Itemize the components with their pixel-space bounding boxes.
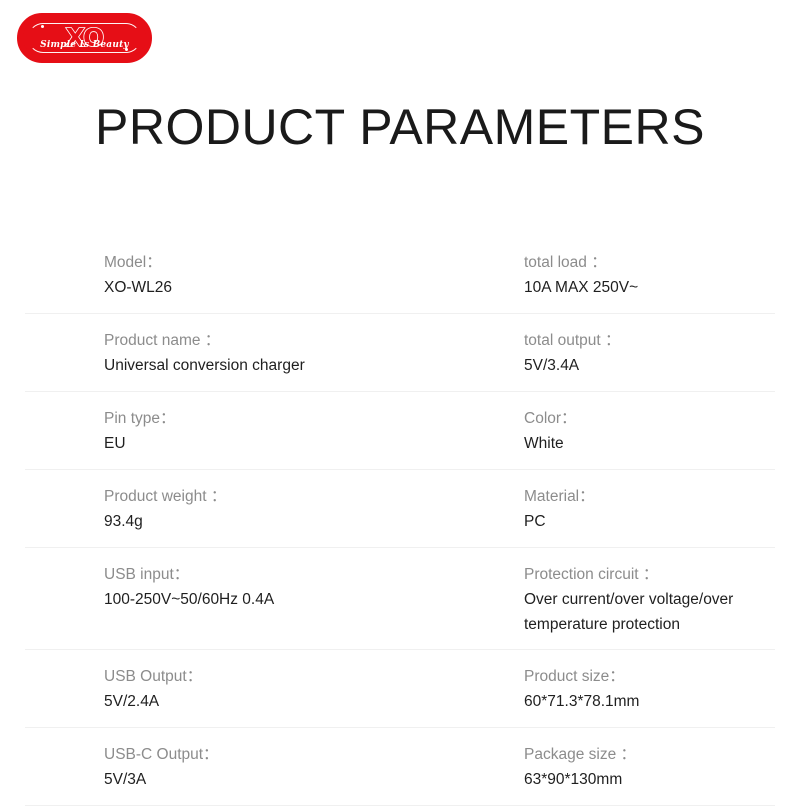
- spec-label: Model：: [104, 250, 435, 275]
- spec-label: Color：: [524, 406, 775, 431]
- spec-label: Pin type：: [104, 406, 435, 431]
- logo-badge-shape: XO Simple Is Beauty: [17, 13, 152, 63]
- spec-table: Model： XO-WL26 total load ： 10A MAX 250V…: [25, 236, 775, 806]
- spec-value: XO-WL26: [104, 275, 435, 300]
- spec-label: USB input：: [104, 562, 435, 587]
- spec-label: USB Output：: [104, 664, 435, 689]
- table-row: USB-C Output： 5V/3A Package size ： 63*90…: [25, 728, 775, 806]
- table-row: USB Output： 5V/2.4A Product size： 60*71.…: [25, 650, 775, 728]
- spec-label: Protection circuit ：: [524, 562, 775, 587]
- spec-label: Product weight ：: [104, 484, 435, 509]
- table-row: USB input： 100-250V~50/60Hz 0.4A Protect…: [25, 548, 775, 650]
- spec-cell-right: Color： White: [435, 406, 775, 456]
- page-title: PRODUCT PARAMETERS: [0, 98, 800, 156]
- spec-value: 10A MAX 250V~: [524, 275, 775, 300]
- spec-cell-right: Product size： 60*71.3*78.1mm: [435, 664, 775, 714]
- spec-value: Universal conversion charger: [104, 353, 435, 378]
- spec-label: Product name ：: [104, 328, 435, 353]
- spec-cell-left: USB-C Output： 5V/3A: [25, 742, 435, 792]
- spec-value: Over current/over voltage/over temperatu…: [524, 587, 775, 637]
- spec-value: PC: [524, 509, 775, 534]
- brand-logo: XO Simple Is Beauty: [17, 13, 152, 63]
- spec-label: total output ：: [524, 328, 775, 353]
- spec-cell-right: Protection circuit ： Over current/over v…: [435, 562, 775, 637]
- spec-value: 93.4g: [104, 509, 435, 534]
- spec-label: USB-C Output：: [104, 742, 435, 767]
- spec-cell-left: Pin type： EU: [25, 406, 435, 456]
- spec-cell-left: Product weight ： 93.4g: [25, 484, 435, 534]
- spec-value: 5V/2.4A: [104, 689, 435, 714]
- spec-value: 100-250V~50/60Hz 0.4A: [104, 587, 435, 612]
- spec-value: 63*90*130mm: [524, 767, 775, 792]
- spec-cell-left: USB input： 100-250V~50/60Hz 0.4A: [25, 562, 435, 637]
- spec-label: total load ：: [524, 250, 775, 275]
- spec-cell-left: USB Output： 5V/2.4A: [25, 664, 435, 714]
- spec-label: Package size ：: [524, 742, 775, 767]
- spec-label: Material：: [524, 484, 775, 509]
- spec-cell-right: total output ： 5V/3.4A: [435, 328, 775, 378]
- spec-value: 5V/3.4A: [524, 353, 775, 378]
- spec-value: 60*71.3*78.1mm: [524, 689, 775, 714]
- spec-value: EU: [104, 431, 435, 456]
- spec-cell-right: Package size ： 63*90*130mm: [435, 742, 775, 792]
- spec-cell-right: total load ： 10A MAX 250V~: [435, 250, 775, 300]
- spec-cell-right: Material： PC: [435, 484, 775, 534]
- table-row: Pin type： EU Color： White: [25, 392, 775, 470]
- table-row: Model： XO-WL26 total load ： 10A MAX 250V…: [25, 236, 775, 314]
- logo-tagline: Simple Is Beauty: [23, 40, 146, 50]
- logo-inner-fill: XO Simple Is Beauty: [23, 19, 146, 57]
- spec-value: White: [524, 431, 775, 456]
- table-row: Product name ： Universal conversion char…: [25, 314, 775, 392]
- table-row: Product weight ： 93.4g Material： PC: [25, 470, 775, 548]
- spec-cell-left: Product name ： Universal conversion char…: [25, 328, 435, 378]
- spec-value: 5V/3A: [104, 767, 435, 792]
- spec-cell-left: Model： XO-WL26: [25, 250, 435, 300]
- spec-label: Product size：: [524, 664, 775, 689]
